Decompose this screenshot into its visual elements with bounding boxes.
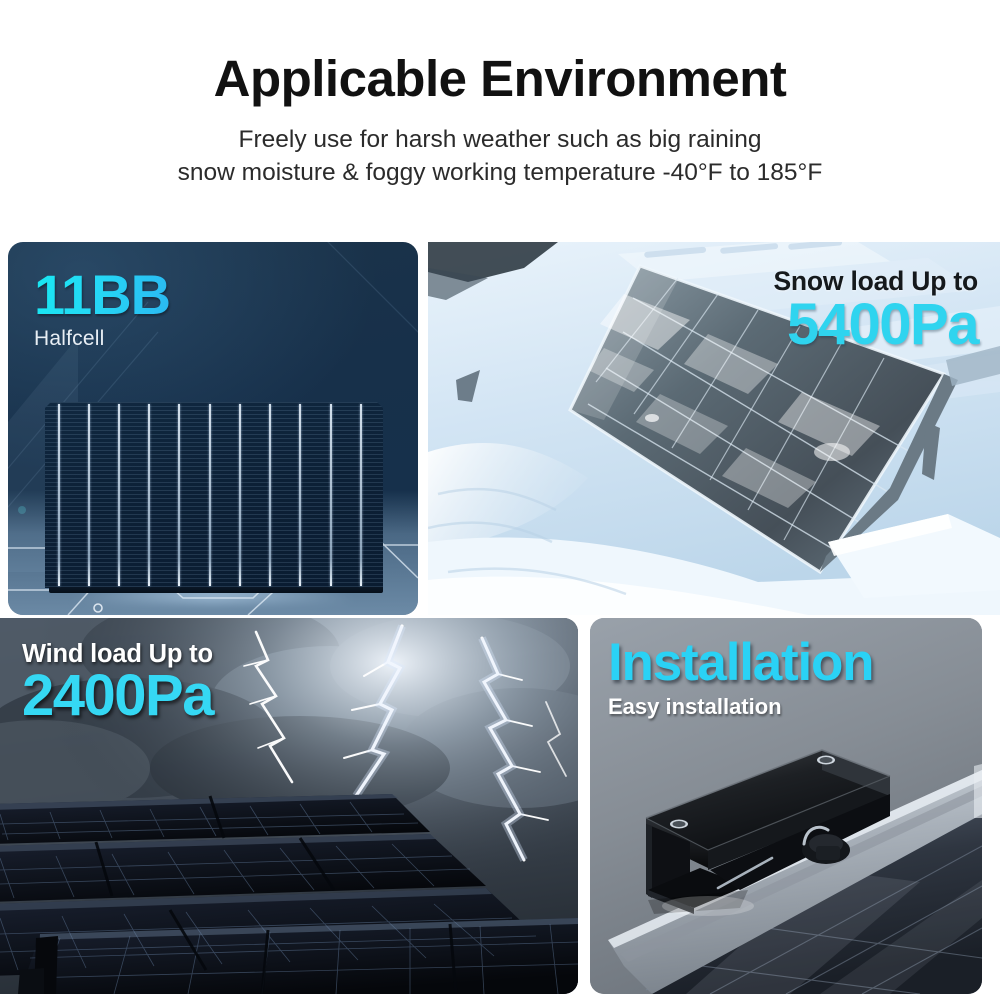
snow-text-block: Snow load Up to 5400Pa (773, 266, 978, 354)
subtitle-line-2: snow moisture & foggy working temperatur… (0, 156, 1000, 190)
panel-wind-load[interactable]: Wind load Up to 2400Pa (0, 618, 578, 994)
page-header: Applicable Environment Freely use for ha… (0, 0, 1000, 190)
subtitle-line-1: Freely use for harsh weather such as big… (0, 123, 1000, 157)
halfcell-text-block: 11BB Halfcell (34, 267, 170, 351)
snow-load-value: 5400Pa (773, 295, 978, 354)
installation-subtitle: Easy installation (608, 694, 873, 720)
wind-text-block: Wind load Up to 2400Pa (22, 640, 213, 725)
halfcell-caption: Halfcell (34, 327, 170, 351)
solar-cell-icon (45, 402, 383, 588)
page-subtitle: Freely use for harsh weather such as big… (0, 123, 1000, 191)
wind-load-value: 2400Pa (22, 666, 213, 725)
panel-installation[interactable]: Installation Easy installation (590, 618, 982, 994)
page-title: Applicable Environment (0, 52, 1000, 106)
panel-snow-load[interactable]: Snow load Up to 5400Pa (428, 242, 1000, 615)
halfcell-big-value: 11BB (34, 267, 170, 323)
feature-panel-grid: 11BB Halfcell (0, 236, 1000, 1000)
panel-halfcell[interactable]: 11BB Halfcell (8, 242, 418, 615)
installation-title: Installation (608, 636, 873, 689)
install-text-block: Installation Easy installation (608, 636, 873, 720)
